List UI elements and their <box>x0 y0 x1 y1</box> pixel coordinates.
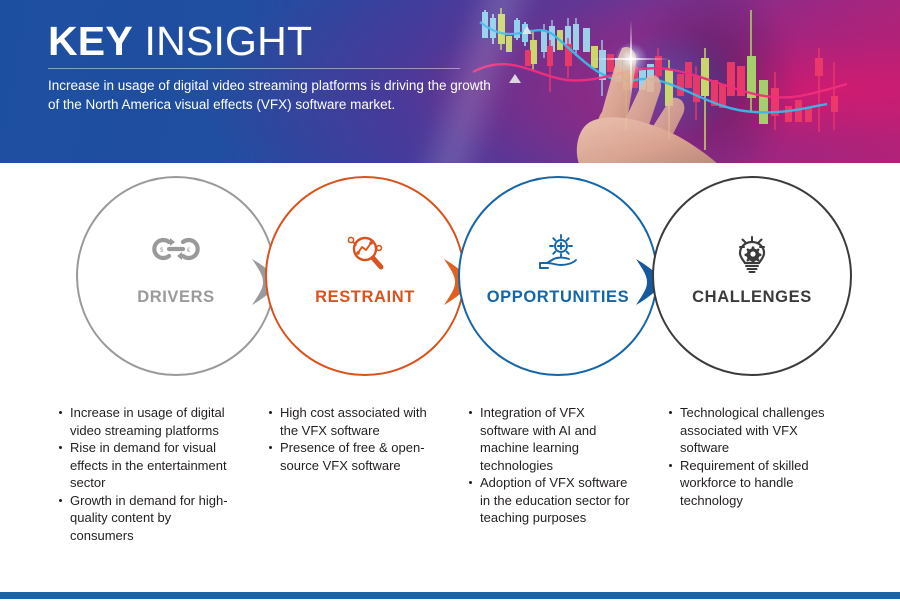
list-item: Technological challenges associated with… <box>666 404 846 457</box>
list-item: Requirement of skilled workforce to hand… <box>666 457 846 510</box>
node-opportunities[interactable]: OPPORTUNITIES <box>458 176 658 376</box>
cycle-arrows-icon: $€ <box>76 234 276 264</box>
hand-idea-icon <box>458 234 658 274</box>
header-banner: KEY INSIGHT Increase in usage of digital… <box>0 0 900 163</box>
insight-nodes-row: $€ DRIVERS RESTRAINT <box>0 163 900 398</box>
node-ring-drivers <box>76 176 276 376</box>
list-item: Growth in demand for high-quality conten… <box>56 492 236 545</box>
bullet-column-drivers: Increase in usage of digital video strea… <box>56 404 236 544</box>
node-label-drivers: DRIVERS <box>76 288 276 307</box>
footer-divider <box>0 592 900 599</box>
page-title-bold: KEY <box>48 18 133 64</box>
node-ring-restraint <box>265 176 465 376</box>
list-item: Presence of free & open-source VFX softw… <box>266 439 441 474</box>
bullet-column-restraint: High cost associated with the VFX softwa… <box>266 404 441 474</box>
lightbulb-gear-icon <box>652 234 852 274</box>
page-subtitle: Increase in usage of digital video strea… <box>48 76 498 114</box>
list-item: Rise in demand for visual effects in the… <box>56 439 236 492</box>
node-ring-opportunities <box>458 176 658 376</box>
list-item: Adoption of VFX software in the educatio… <box>466 474 634 527</box>
node-label-challenges: CHALLENGES <box>652 288 852 307</box>
svg-text:$: $ <box>160 248 164 254</box>
bullet-columns: Increase in usage of digital video strea… <box>0 404 900 564</box>
list-item: Increase in usage of digital video strea… <box>56 404 236 439</box>
bullet-column-opportunities: Integration of VFX software with AI and … <box>466 404 634 527</box>
list-item: Integration of VFX software with AI and … <box>466 404 634 474</box>
page-title-light: INSIGHT <box>145 18 313 64</box>
node-label-opportunities: OPPORTUNITIES <box>458 288 658 307</box>
page-title: KEY INSIGHT <box>48 17 312 65</box>
node-ring-challenges <box>652 176 852 376</box>
magnifier-chart-icon <box>265 234 465 272</box>
node-challenges[interactable]: CHALLENGES <box>652 176 852 376</box>
title-divider <box>48 68 460 69</box>
finger-touch-flare-icon <box>608 36 654 82</box>
node-restraint[interactable]: RESTRAINT <box>265 176 465 376</box>
node-label-restraint: RESTRAINT <box>265 288 465 307</box>
list-item: High cost associated with the VFX softwa… <box>266 404 441 439</box>
svg-text:€: € <box>187 248 191 254</box>
bullet-column-challenges: Technological challenges associated with… <box>666 404 846 509</box>
node-drivers[interactable]: $€ DRIVERS <box>76 176 276 376</box>
